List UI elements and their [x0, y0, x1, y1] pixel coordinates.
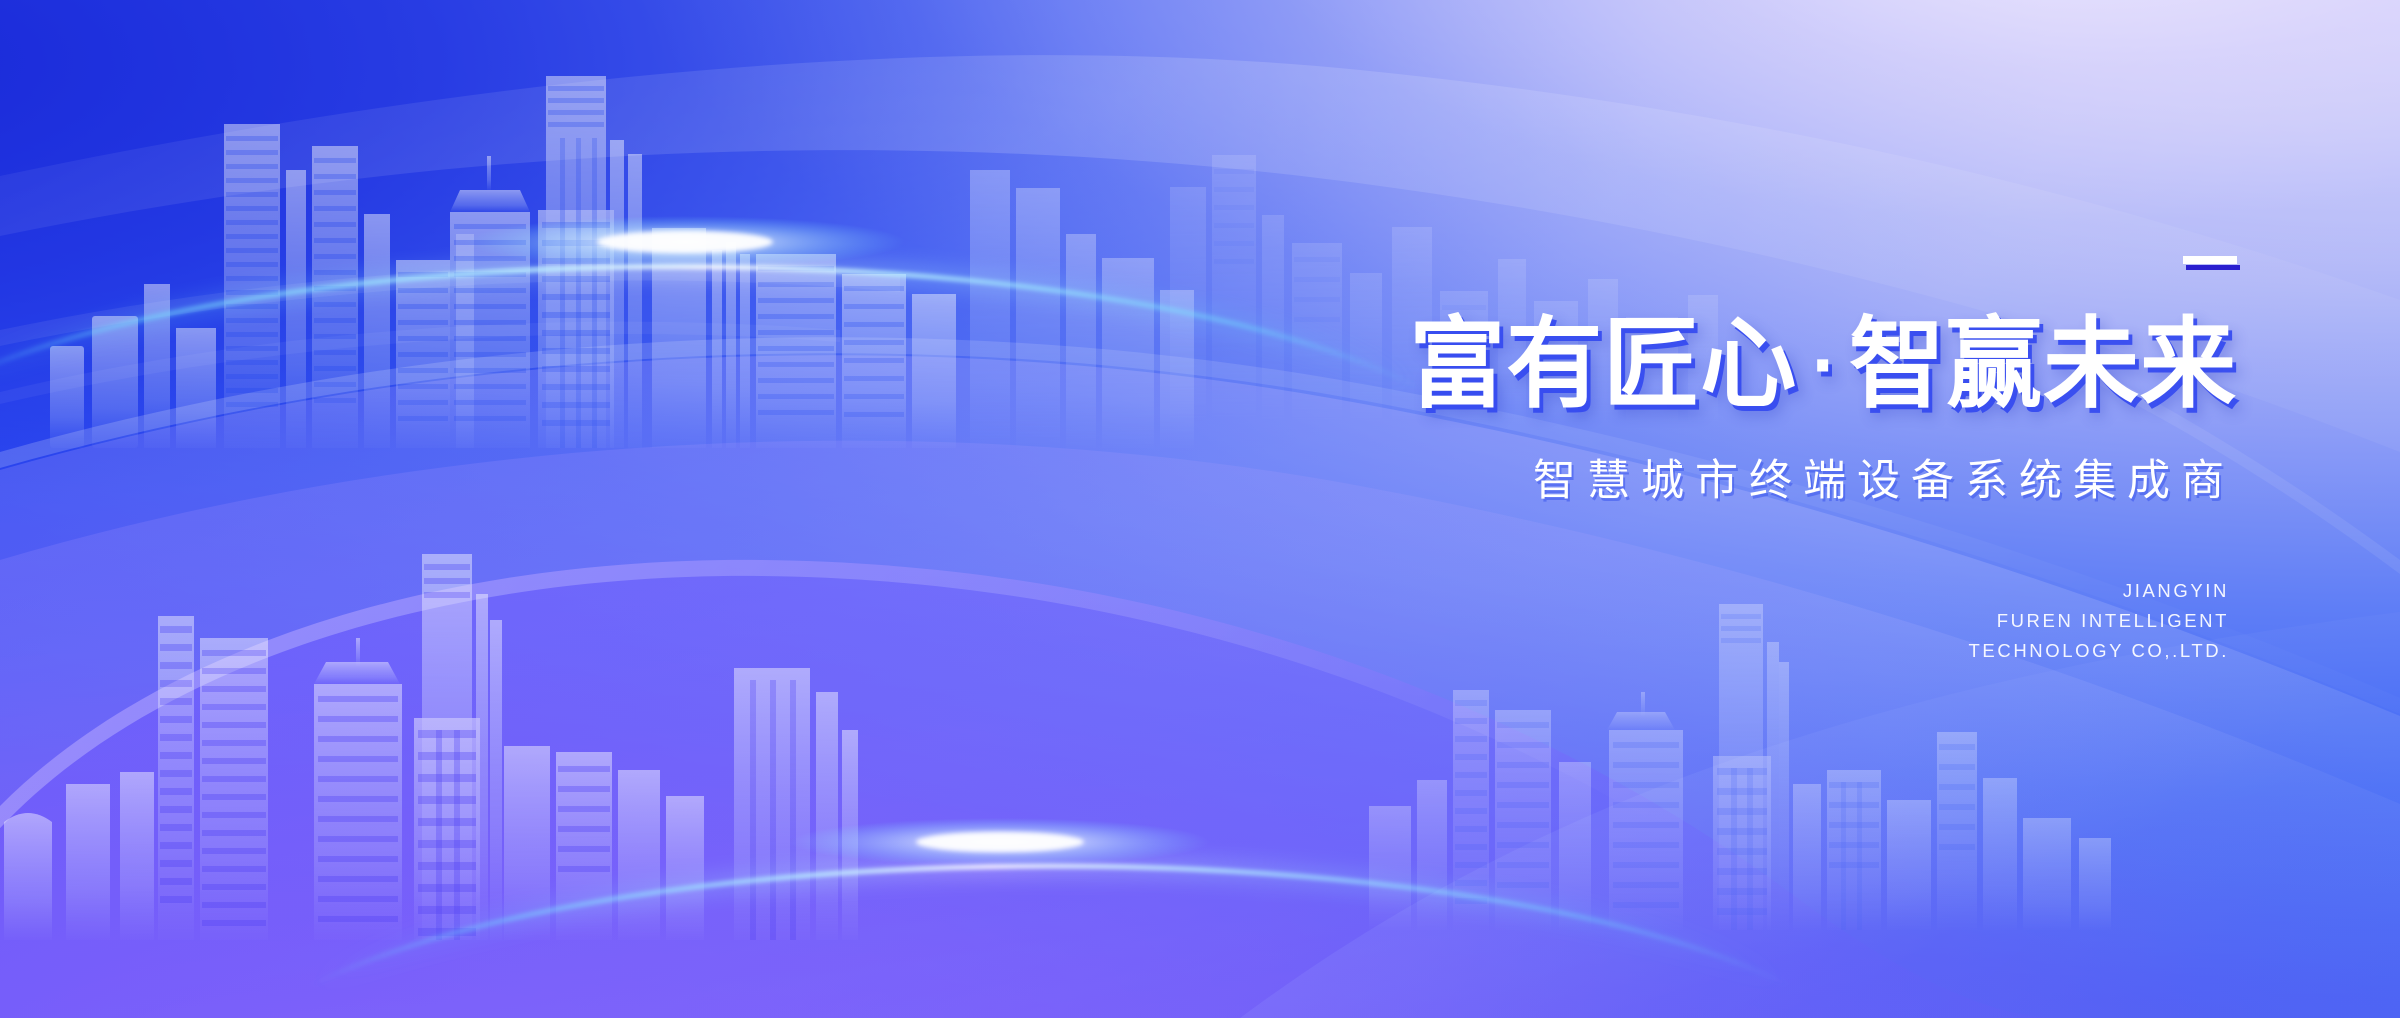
glow-arc-lower [300, 760, 1800, 1000]
headline-separator-dot: · [1797, 330, 1849, 404]
decorative-rule-icon [2183, 256, 2237, 264]
company-name-block: JIANGYIN FUREN INTELLIGENT TECHNOLOGY CO… [1147, 576, 2237, 666]
headline-text-block: 富有匠心·智赢未来 智慧城市终端设备系统集成商 JIANGYIN FUREN I… [1147, 256, 2237, 666]
headline-right: 智赢未来 [1849, 307, 2237, 422]
company-line-city: JIANGYIN [1147, 576, 2229, 606]
company-line-suffix: TECHNOLOGY CO,.LTD. [1147, 636, 2229, 666]
company-line-brand: FUREN INTELLIGENT [1147, 606, 2229, 636]
promotional-banner: 富有匠心·智赢未来 智慧城市终端设备系统集成商 JIANGYIN FUREN I… [0, 0, 2400, 1018]
page-subtitle: 智慧城市终端设备系统集成商 [1147, 446, 2237, 508]
headline-left: 富有匠心 [1409, 307, 1797, 422]
page-title: 富有匠心·智赢未来 [1180, 315, 2237, 416]
